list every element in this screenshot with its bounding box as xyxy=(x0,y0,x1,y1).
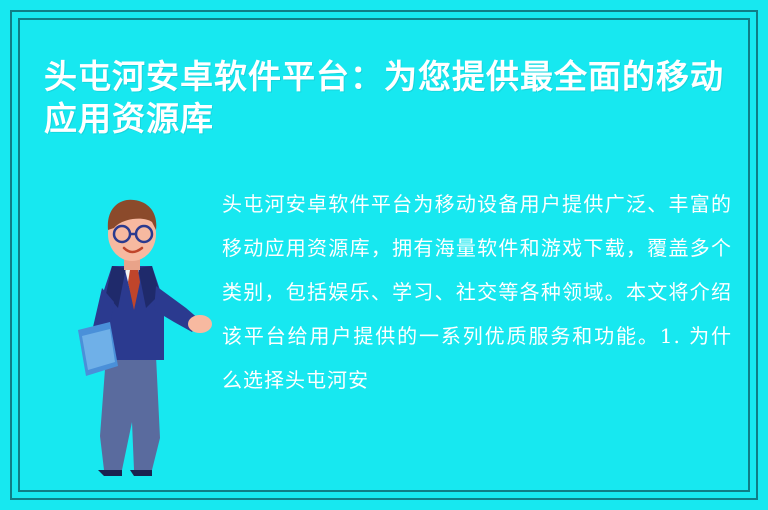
article-card: 头屯河安卓软件平台：为您提供最全面的移动应用资源库 xyxy=(0,0,768,510)
page-title: 头屯河安卓软件平台：为您提供最全面的移动应用资源库 xyxy=(44,56,734,140)
businessman-presenting-illustration xyxy=(60,170,220,490)
article-body: 头屯河安卓软件平台为移动设备用户提供广泛、丰富的移动应用资源库，拥有海量软件和游… xyxy=(222,182,732,402)
